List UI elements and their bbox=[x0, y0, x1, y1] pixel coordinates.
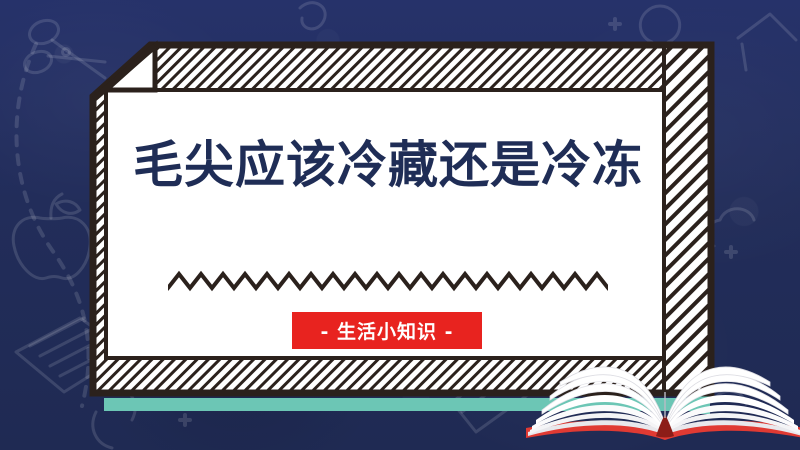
slide-canvas: 毛尖应该冷藏还是冷冻 - 生活小知识 - bbox=[0, 0, 800, 450]
zigzag-divider bbox=[168, 270, 608, 292]
status-badge-label: - 生活小知识 - bbox=[320, 317, 453, 344]
page-title: 毛尖应该冷藏还是冷冻 bbox=[96, 140, 680, 190]
status-badge: - 生活小知识 - bbox=[292, 312, 482, 349]
open-book-illustration bbox=[520, 352, 800, 450]
card-content: 毛尖应该冷藏还是冷冻 - 生活小知识 - bbox=[96, 48, 680, 390]
